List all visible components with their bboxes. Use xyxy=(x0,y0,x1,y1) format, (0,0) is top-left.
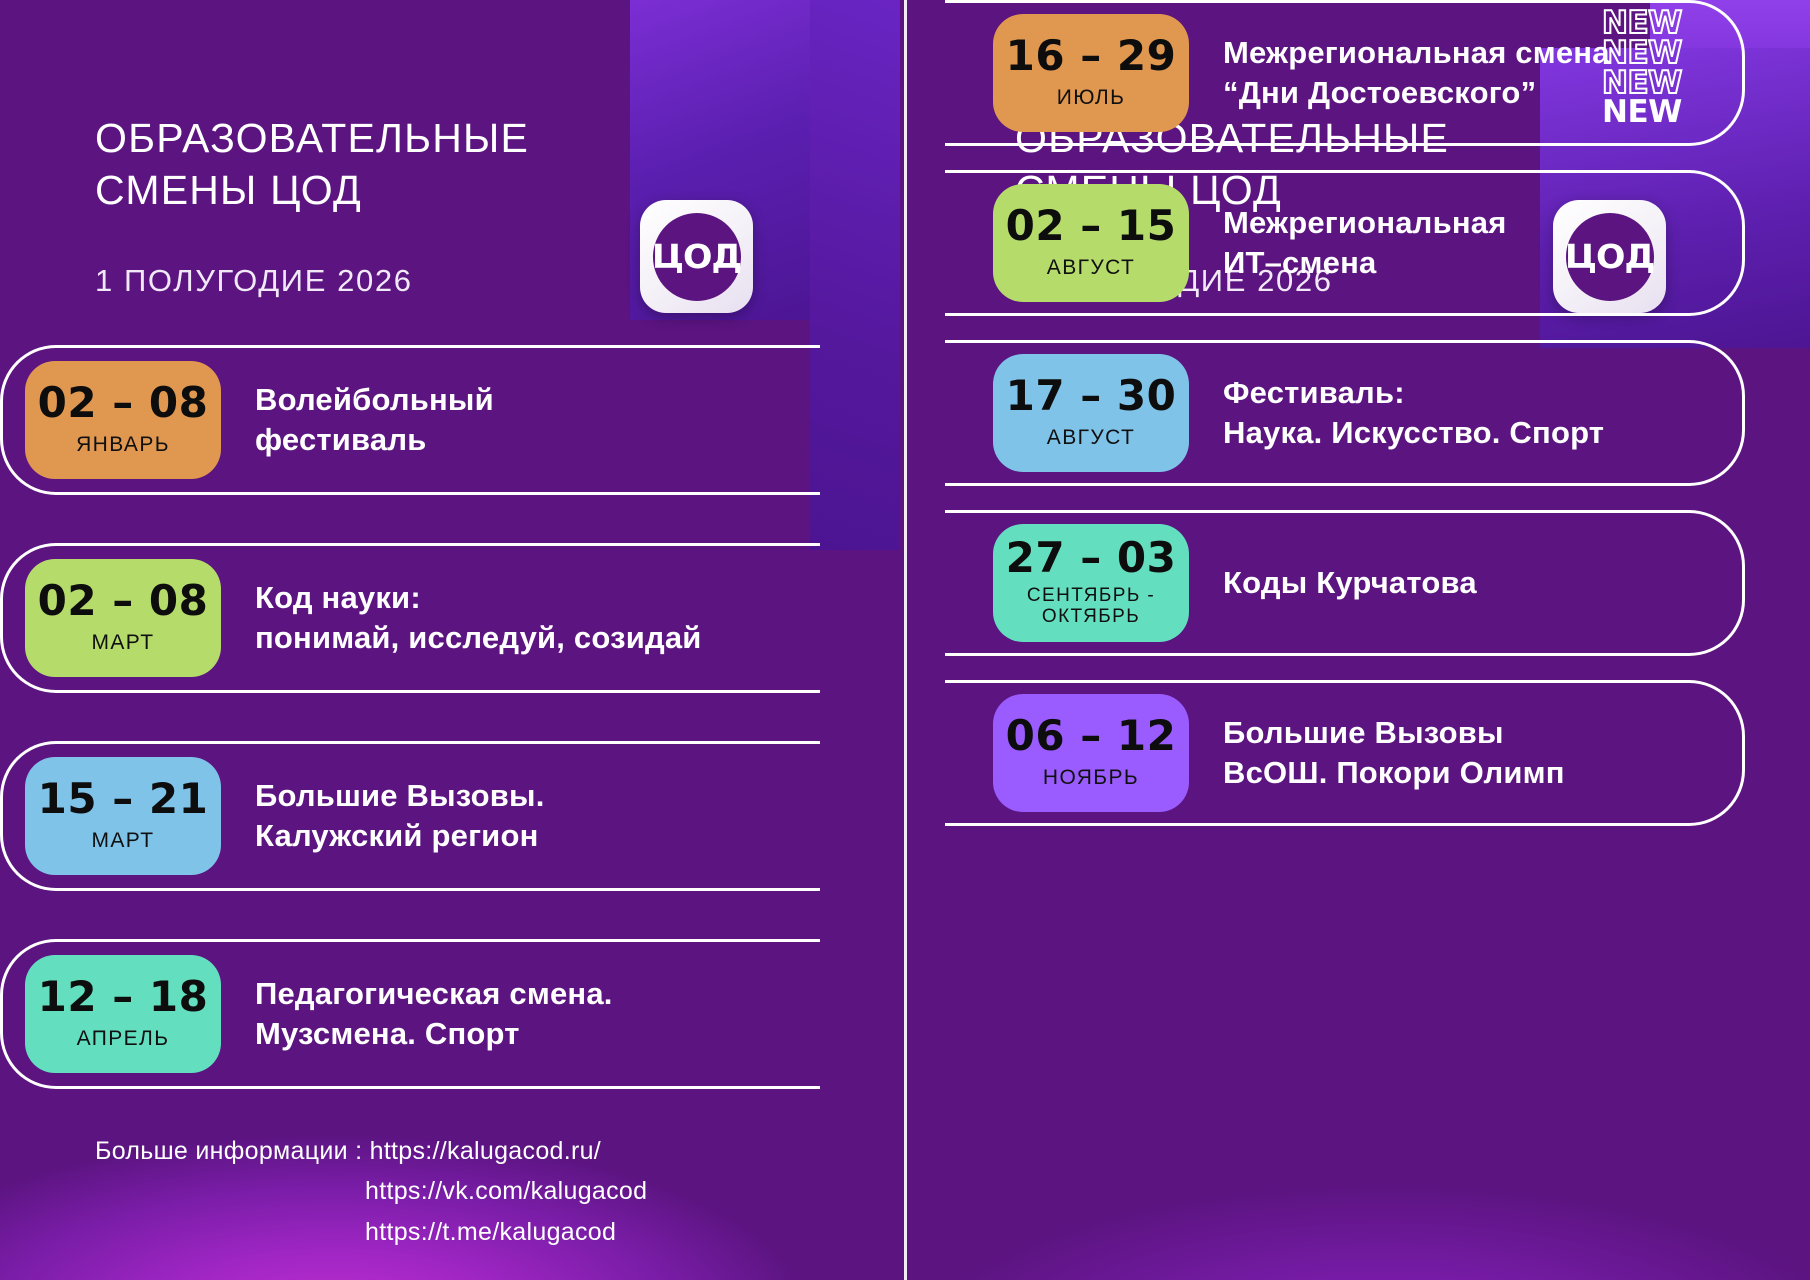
date-month: АПРЕЛЬ xyxy=(77,1027,170,1051)
date-badge: 27 – 03 СЕНТЯБРЬ - ОКТЯБРЬ xyxy=(993,524,1189,642)
event-title: Волейбольный фестиваль xyxy=(255,380,494,461)
footer-links: Больше информации : https://kalugacod.ru… xyxy=(95,1131,647,1253)
date-badge: 15 – 21 МАРТ xyxy=(25,757,221,875)
date-month: АВГУСТ xyxy=(1047,426,1135,450)
event-row[interactable]: 06 – 12 НОЯБРЬ Большие Вызовы ВсОШ. Поко… xyxy=(945,680,1745,826)
date-range: 12 – 18 xyxy=(38,976,209,1018)
event-title: Коды Курчатова xyxy=(1223,563,1477,603)
footer-link-site[interactable]: https://kalugacod.ru/ xyxy=(370,1137,601,1165)
event-title: Большие Вызовы. Калужский регион xyxy=(255,776,545,857)
date-month: МАРТ xyxy=(92,829,155,853)
event-list-second-half: 16 – 29 ИЮЛЬ Межрегиональная смена “Дни … xyxy=(905,0,1810,850)
date-badge: 16 – 29 ИЮЛЬ xyxy=(993,14,1189,132)
date-range: 15 – 21 xyxy=(38,778,209,820)
date-month: СЕНТЯБРЬ - ОКТЯБРЬ xyxy=(1027,585,1155,628)
event-row[interactable]: 17 – 30 АВГУСТ Фестиваль: Наука. Искусст… xyxy=(945,340,1745,486)
poster-root: ОБРАЗОВАТЕЛЬНЫЕ СМЕНЫ ЦОД 1 ПОЛУГОДИЕ 20… xyxy=(0,0,1810,1280)
new-badge-solid: NEW xyxy=(1602,98,1720,128)
new-badge-outline-1: NEW xyxy=(1602,9,1720,39)
footer-line-1: Больше информации : https://kalugacod.ru… xyxy=(95,1131,647,1172)
event-row[interactable]: 16 – 29 ИЮЛЬ Межрегиональная смена “Дни … xyxy=(945,0,1745,146)
date-badge: 02 – 08 МАРТ xyxy=(25,559,221,677)
event-row[interactable]: 02 – 08 МАРТ Код науки: понимай, исследу… xyxy=(0,543,820,693)
event-title: Межрегиональная смена “Дни Достоевского” xyxy=(1223,33,1610,114)
footer-label: Больше информации : xyxy=(95,1137,362,1165)
date-range: 02 – 08 xyxy=(38,382,209,424)
date-range: 02 – 15 xyxy=(1006,205,1177,247)
cod-logo: ЦОД xyxy=(640,200,753,313)
event-title: Межрегиональная ИТ–смена xyxy=(1223,203,1506,284)
event-row[interactable]: 15 – 21 МАРТ Большие Вызовы. Калужский р… xyxy=(0,741,820,891)
cod-logo-text: ЦОД xyxy=(652,240,741,273)
column-second-half: ОБРАЗОВАТЕЛЬНЫЕ СМЕНЫ ЦОД 2 ПОЛУГОДИЕ 20… xyxy=(905,0,1810,1280)
date-range: 27 – 03 xyxy=(1006,537,1177,579)
date-month: ЯНВАРЬ xyxy=(76,433,170,457)
event-title: Фестиваль: Наука. Искусство. Спорт xyxy=(1223,373,1604,454)
event-title: Большие Вызовы ВсОШ. Покори Олимп xyxy=(1223,713,1565,794)
date-badge: 17 – 30 АВГУСТ xyxy=(993,354,1189,472)
date-month: МАРТ xyxy=(92,631,155,655)
event-row[interactable]: 02 – 15 АВГУСТ Межрегиональная ИТ–смена xyxy=(945,170,1745,316)
event-title: Педагогическая смена. Музсмена. Спорт xyxy=(255,974,613,1055)
date-badge: 12 – 18 АПРЕЛЬ xyxy=(25,955,221,1073)
new-badge: NEW NEW NEW NEW xyxy=(1602,9,1720,128)
date-badge: 02 – 15 АВГУСТ xyxy=(993,184,1189,302)
new-badge-outline-3: NEW xyxy=(1602,69,1720,99)
date-badge: 06 – 12 НОЯБРЬ xyxy=(993,694,1189,812)
date-range: 02 – 08 xyxy=(38,580,209,622)
footer-link-vk[interactable]: https://vk.com/kalugacod xyxy=(95,1171,647,1212)
event-row[interactable]: 12 – 18 АПРЕЛЬ Педагогическая смена. Муз… xyxy=(0,939,820,1089)
column-first-half: ОБРАЗОВАТЕЛЬНЫЕ СМЕНЫ ЦОД 1 ПОЛУГОДИЕ 20… xyxy=(0,0,905,1280)
event-row[interactable]: 27 – 03 СЕНТЯБРЬ - ОКТЯБРЬ Коды Курчатов… xyxy=(945,510,1745,656)
date-range: 17 – 30 xyxy=(1006,375,1177,417)
event-list-first-half: 02 – 08 ЯНВАРЬ Волейбольный фестиваль 02… xyxy=(0,345,905,1137)
event-row[interactable]: 02 – 08 ЯНВАРЬ Волейбольный фестиваль xyxy=(0,345,820,495)
event-title: Код науки: понимай, исследуй, созидай xyxy=(255,578,702,659)
date-month: АВГУСТ xyxy=(1047,256,1135,280)
columns-container: ОБРАЗОВАТЕЛЬНЫЕ СМЕНЫ ЦОД 1 ПОЛУГОДИЕ 20… xyxy=(0,0,1810,1280)
date-range: 16 – 29 xyxy=(1006,35,1177,77)
footer-link-telegram[interactable]: https://t.me/kalugacod xyxy=(95,1212,647,1253)
date-badge: 02 – 08 ЯНВАРЬ xyxy=(25,361,221,479)
new-badge-outline-2: NEW xyxy=(1602,39,1720,69)
cod-logo-circle: ЦОД xyxy=(653,213,741,301)
date-range: 06 – 12 xyxy=(1006,715,1177,757)
date-month: НОЯБРЬ xyxy=(1043,766,1139,790)
date-month: ИЮЛЬ xyxy=(1057,86,1126,110)
